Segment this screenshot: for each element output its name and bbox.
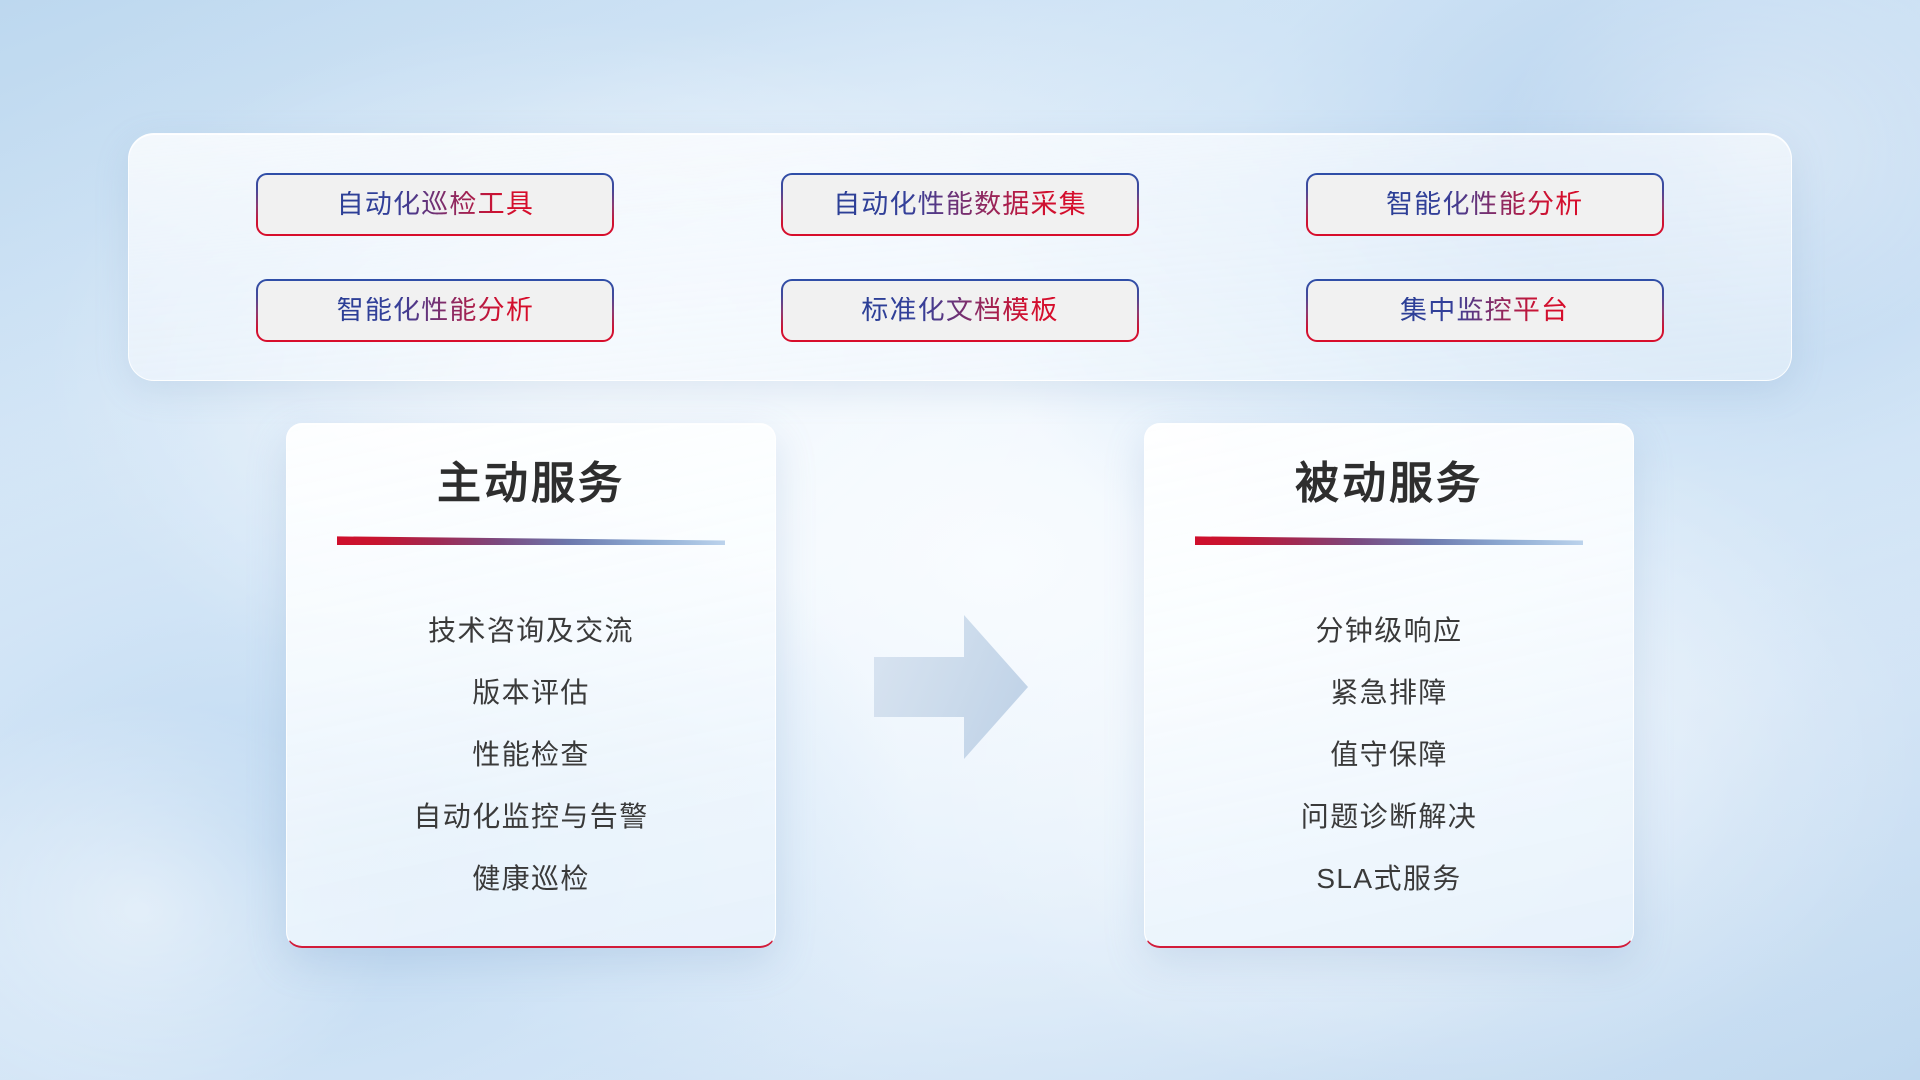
service-item-list: 分钟级响应 紧急排障 值守保障 问题诊断解决 SLA式服务 [1169,585,1609,924]
list-item: 版本评估 [311,676,751,710]
capability-pill-3[interactable]: 智能化性能分析 [1306,173,1664,236]
list-item: 分钟级响应 [1169,614,1609,648]
service-item-list: 技术咨询及交流 版本评估 性能检查 自动化监控与告警 健康巡检 [311,585,751,924]
list-item: 性能检查 [311,738,751,772]
capability-pill-label: 自动化性能数据采集 [833,191,1087,218]
capability-pill-5[interactable]: 标准化文档模板 [781,279,1139,342]
capability-pill-label: 智能化性能分析 [1386,191,1583,218]
capability-pill-4[interactable]: 智能化性能分析 [256,279,614,342]
capabilities-panel: 自动化巡检工具 自动化性能数据采集 智能化性能分析 智能化性能分析 标准化文档模… [128,133,1792,381]
arrow-right-icon [872,613,1030,761]
card-title: 被动服务 [1169,460,1609,508]
list-item: SLA式服务 [1169,862,1609,896]
capability-pill-grid: 自动化巡检工具 自动化性能数据采集 智能化性能分析 智能化性能分析 标准化文档模… [129,134,1791,380]
capability-pill-2[interactable]: 自动化性能数据采集 [781,173,1139,236]
list-item: 自动化监控与告警 [311,800,751,834]
capability-pill-6[interactable]: 集中监控平台 [1306,279,1664,342]
capability-pill-label: 自动化巡检工具 [337,191,534,218]
capability-pill-label: 集中监控平台 [1400,297,1569,324]
service-card-passive: 被动服务 分钟级响应 紧急排障 值守保障 问题诊断解决 SLA式服务 [1144,423,1634,948]
card-title: 主动服务 [311,460,751,508]
list-item: 紧急排障 [1169,676,1609,710]
list-item: 值守保障 [1169,738,1609,772]
card-divider [1195,536,1583,545]
capability-pill-label: 标准化文档模板 [861,297,1058,324]
capability-pill-label: 智能化性能分析 [337,297,534,324]
capability-pill-1[interactable]: 自动化巡检工具 [256,173,614,236]
list-item: 问题诊断解决 [1169,800,1609,834]
list-item: 技术咨询及交流 [311,614,751,648]
list-item: 健康巡检 [311,862,751,896]
service-card-active: 主动服务 技术咨询及交流 版本评估 性能检查 自动化监控与告警 健康巡检 [286,423,776,948]
card-divider [337,536,725,545]
